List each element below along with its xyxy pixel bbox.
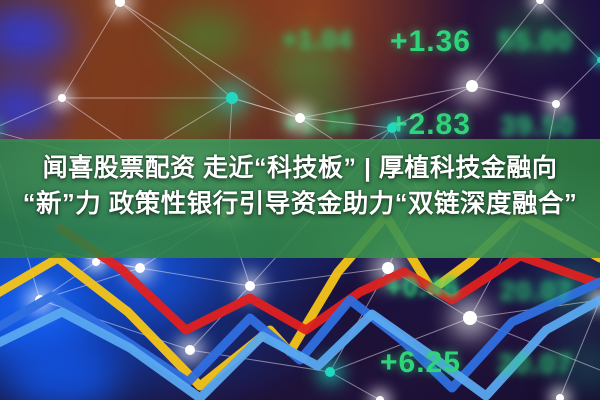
- news-banner-image: +1.04+1.3655.00+1.30+2.8339.50: [0, 0, 600, 400]
- ticker-value: 20.07: [498, 348, 573, 380]
- headline-line-2: “新”力 政策性银行引导资金助力“双链深度融合”: [0, 186, 600, 222]
- ticker-value: 20.07: [500, 276, 573, 307]
- ticker-value: +6.25: [380, 346, 461, 380]
- headline-text: 闻喜股票配资 走近“科技板” | 厚植科技金融向 “新”力 政策性银行引导资金助…: [0, 150, 600, 222]
- headline-line-1: 闻喜股票配资 走近“科技板” | 厚植科技金融向: [0, 150, 600, 186]
- ticker-value: +0.46: [386, 272, 459, 303]
